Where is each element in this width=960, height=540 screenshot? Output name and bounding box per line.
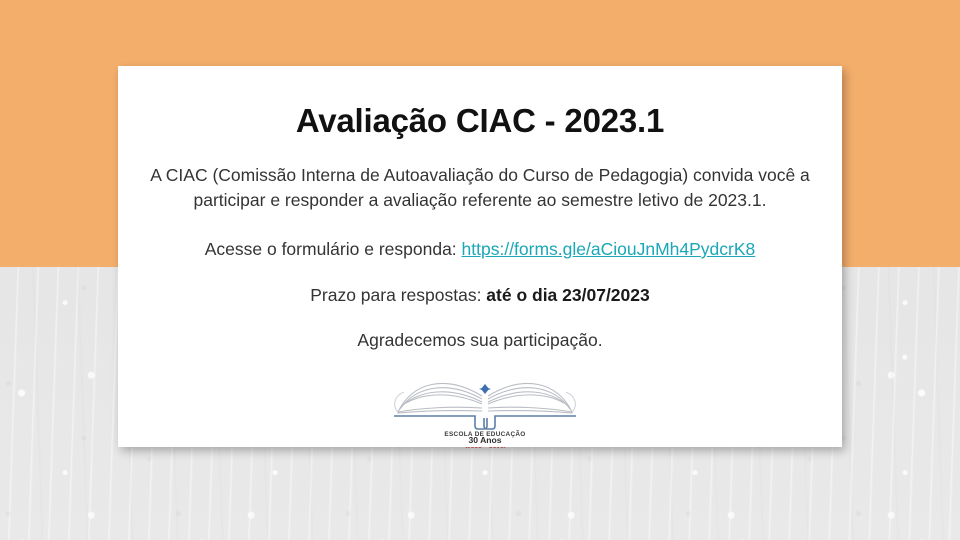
logo-graphic: ESCOLA DE EDUCAÇÃO 30 Anos (1986 – 2016) bbox=[390, 366, 580, 448]
logo-line-2: 30 Anos bbox=[468, 435, 501, 445]
escola-de-educacao-logo: ESCOLA DE EDUCAÇÃO 30 Anos (1986 – 2016) bbox=[390, 366, 580, 448]
intro-paragraph: A CIAC (Comissão Interna de Autoavaliaçã… bbox=[118, 163, 842, 213]
book-left-page-icon bbox=[398, 383, 482, 413]
content-card: Avaliação CIAC - 2023.1 A CIAC (Comissão… bbox=[118, 66, 842, 447]
book-right-page-icon bbox=[488, 383, 572, 413]
presentation-slide: Avaliação CIAC - 2023.1 A CIAC (Comissão… bbox=[0, 0, 960, 540]
form-link-line: Acesse o formulário e responda: https://… bbox=[118, 237, 842, 262]
logo-line-3: (1986 – 2016) bbox=[464, 447, 505, 449]
deadline-label: Prazo para respostas: bbox=[310, 285, 486, 305]
thanks-paragraph: Agradecemos sua participação. bbox=[118, 328, 842, 353]
book-base-rule-left bbox=[394, 416, 487, 429]
form-link[interactable]: https://forms.gle/aCiouJnMh4PydcrK8 bbox=[462, 239, 756, 259]
slide-title: Avaliação CIAC - 2023.1 bbox=[118, 102, 842, 140]
form-link-label: Acesse o formulário e responda: bbox=[205, 239, 462, 259]
deadline-line: Prazo para respostas: até o dia 23/07/20… bbox=[118, 283, 842, 308]
book-base-rule-right bbox=[484, 416, 576, 429]
diamond-accent-icon bbox=[479, 384, 491, 394]
content-card-inner: Avaliação CIAC - 2023.1 A CIAC (Comissão… bbox=[118, 66, 842, 447]
deadline-value: até o dia 23/07/2023 bbox=[486, 285, 649, 305]
